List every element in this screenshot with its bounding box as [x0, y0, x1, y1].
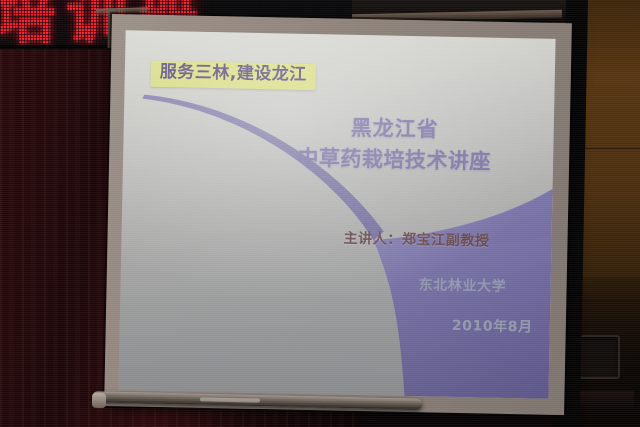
screen-rail-cap [92, 393, 106, 408]
slide-banner: 服务三林,建设龙江 [151, 61, 316, 90]
slide-title: 黑龙江省 中草药栽培技术讲座 [241, 111, 548, 179]
slide-speaker: 主讲人：郑宝江副教授 [343, 228, 489, 251]
slide-title-line2: 中草药栽培技术讲座 [241, 141, 548, 179]
screen-frame: 服务三林,建设龙江 黑龙江省 中草药栽培技术讲座 主讲人：郑宝江副教授 东北林业… [104, 14, 572, 415]
slide-date: 2010年8月 [452, 315, 533, 337]
photo-scene: 培训班 [0, 0, 640, 427]
slide-organization: 东北林业大学 [418, 274, 506, 296]
projection-screen-assembly: 服务三林,建设龙江 黑龙江省 中草药栽培技术讲座 主讲人：郑宝江副教授 东北林业… [104, 14, 576, 423]
projection-screen: 服务三林,建设龙江 黑龙江省 中草药栽培技术讲座 主讲人：郑宝江副教授 东北林业… [118, 30, 555, 399]
slide-banner-text: 服务三林,建设龙江 [160, 64, 307, 85]
